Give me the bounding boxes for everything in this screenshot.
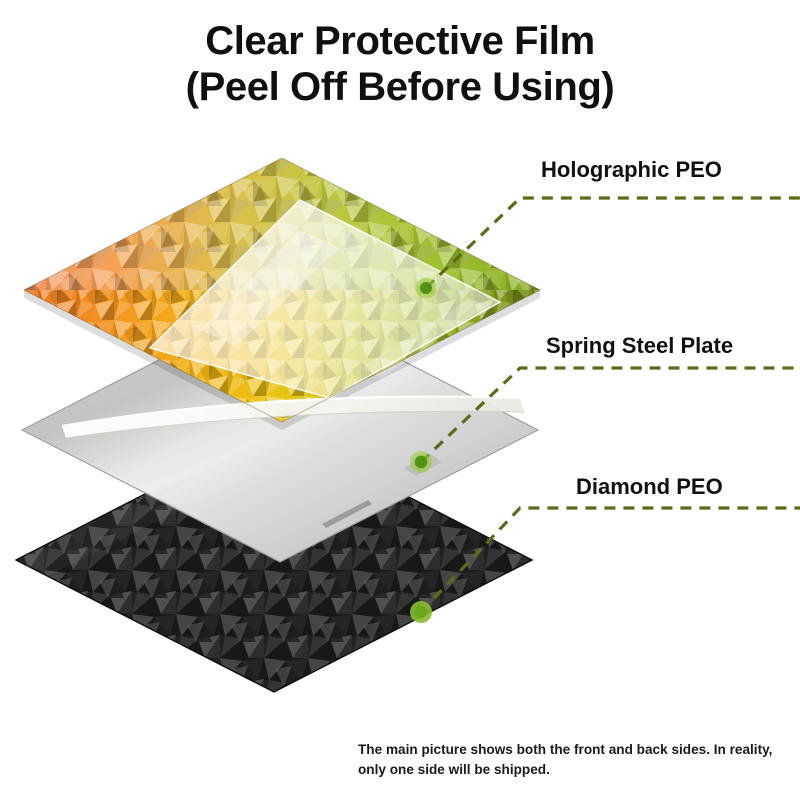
callout-label-spring-steel-plate: Spring Steel Plate (546, 333, 733, 359)
green-dot-marker-diamond (410, 601, 432, 623)
footnote-disclaimer: The main picture shows both the front an… (358, 740, 788, 779)
page-title: Clear Protective Film (Peel Off Before U… (0, 18, 800, 110)
callout-label-diamond-peo: Diamond PEO (576, 474, 723, 500)
callout-label-holographic-peo: Holographic PEO (541, 157, 722, 183)
green-dot-marker-spring (410, 451, 432, 473)
title-line-1: Clear Protective Film (0, 18, 800, 64)
exploded-view-illustration (0, 130, 800, 750)
title-line-2: (Peel Off Before Using) (0, 64, 800, 110)
product-infographic: Clear Protective Film (Peel Off Before U… (0, 0, 800, 800)
green-dot-marker-holographic (416, 278, 437, 299)
